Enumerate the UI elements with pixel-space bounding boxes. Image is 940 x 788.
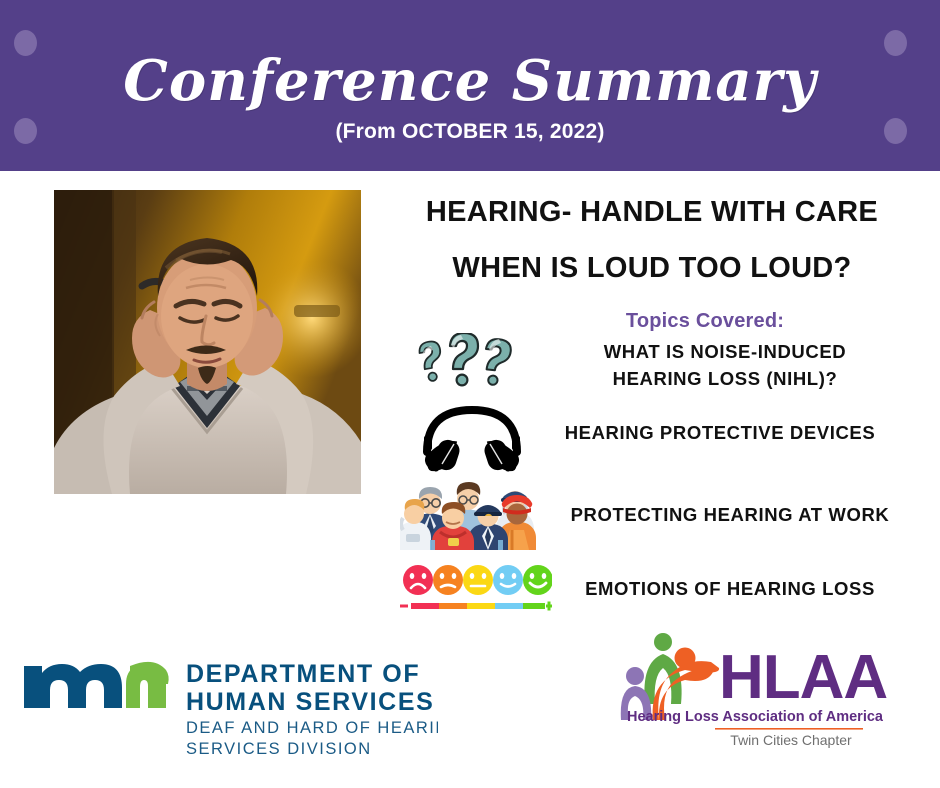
question-marks-icon xyxy=(404,333,524,395)
main-heading-line-1: HEARING- HANDLE WITH CARE xyxy=(382,196,922,229)
page-title: Conference Summary xyxy=(0,50,940,112)
svg-text:DEAF AND HARD OF HEARING: DEAF AND HARD OF HEARING xyxy=(186,719,438,737)
svg-text:Twin Cities Chapter: Twin Cities Chapter xyxy=(730,732,852,748)
header-banner: Conference Summary (From OCTOBER 15, 202… xyxy=(0,0,940,171)
svg-text:SERVICES DIVISION: SERVICES DIVISION xyxy=(186,740,372,758)
emoji-rating-scale-icon xyxy=(400,562,552,612)
hlaa-people-mark-icon xyxy=(621,633,719,720)
topic-item-label-nihl: WHAT IS NOISE-INDUCED HEARING LOSS (NIHL… xyxy=(560,338,890,392)
headphones-icon xyxy=(418,402,526,474)
topics-covered-label: Topics Covered: xyxy=(500,310,910,333)
main-heading-line-2: WHEN IS LOUD TOO LOUD? xyxy=(382,252,922,285)
group-of-workers-icon xyxy=(400,478,542,550)
topic-item-label-emotions: EMOTIONS OF HEARING LOSS xyxy=(560,575,900,602)
mn-dhs-logo: DEPARTMENT OF HUMAN SERVICES DEAF AND HA… xyxy=(18,640,438,760)
svg-text:HLAA: HLAA xyxy=(719,643,887,712)
topic-item-label-protective-devices: HEARING PROTECTIVE DEVICES xyxy=(540,419,900,446)
topic-item-label-hearing-at-work: PROTECTING HEARING AT WORK xyxy=(550,501,910,528)
page-subtitle-date: (From OCTOBER 15, 2022) xyxy=(0,120,940,144)
hlaa-twin-cities-logo: HLAA Hearing Loss Association of America… xyxy=(615,628,895,750)
man-covering-ears-photo xyxy=(54,190,361,494)
conference-summary-slide: Conference Summary (From OCTOBER 15, 202… xyxy=(0,0,940,788)
svg-text:HUMAN SERVICES: HUMAN SERVICES xyxy=(186,688,434,716)
svg-text:Hearing Loss Association of Am: Hearing Loss Association of America xyxy=(627,709,884,725)
svg-text:DEPARTMENT OF: DEPARTMENT OF xyxy=(186,660,420,688)
mn-wordmark-icon xyxy=(24,662,169,708)
